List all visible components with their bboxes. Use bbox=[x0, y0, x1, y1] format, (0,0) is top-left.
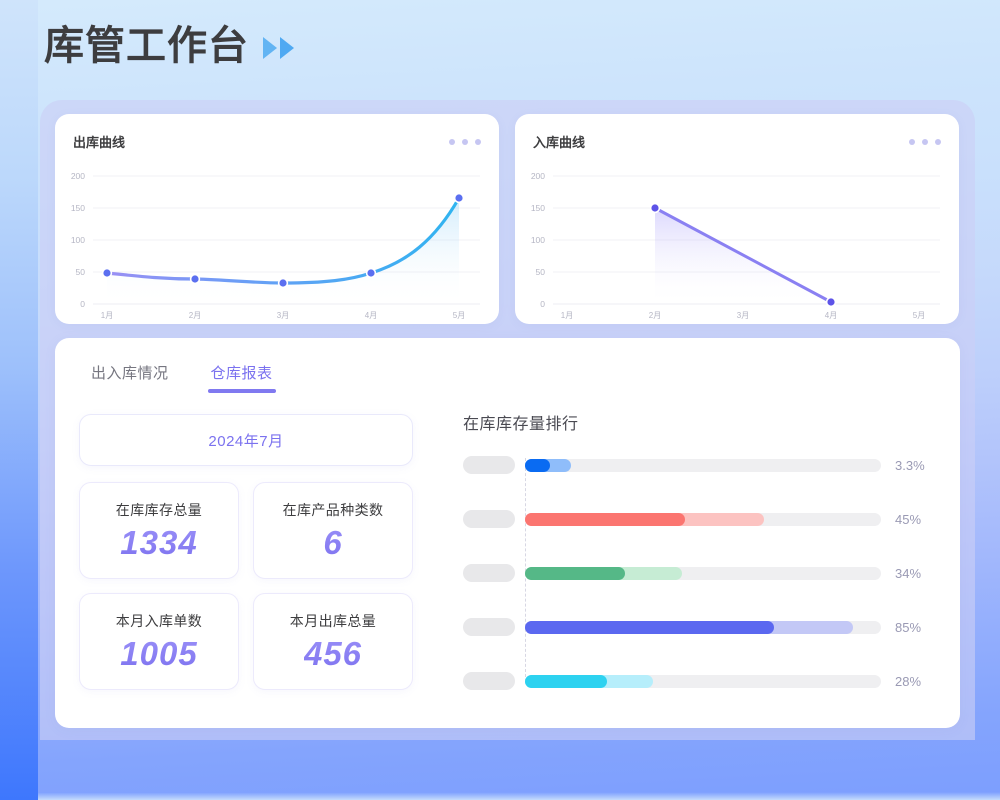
page-title: 库管工作台 bbox=[44, 26, 249, 66]
stat-value: 1334 bbox=[120, 524, 197, 562]
ranking-percent: 45% bbox=[895, 512, 941, 527]
stat-card-product-types[interactable]: 在库产品种类数 6 bbox=[253, 482, 413, 579]
ranking-title: 在库库存量排行 bbox=[463, 410, 941, 434]
report-card: 出入库情况 仓库报表 2024年7月 在库库存总量 1334 在库产品种类数 6… bbox=[55, 338, 960, 728]
ranking-bar-dark bbox=[525, 513, 685, 526]
ranking-label-placeholder bbox=[463, 564, 515, 582]
ranking-percent: 28% bbox=[895, 674, 941, 689]
svg-text:3月: 3月 bbox=[737, 311, 749, 320]
svg-text:0: 0 bbox=[80, 299, 85, 309]
chart-card-inbound: 入库曲线 200 150 100 50 0 bbox=[515, 114, 959, 324]
background-bottom-fade bbox=[38, 792, 1000, 800]
chevron-right-icon-2 bbox=[280, 37, 294, 59]
chart-plot-inbound: 200 150 100 50 0 1月 2月 3月 4月 5月 bbox=[515, 158, 959, 324]
more-dots-icon-inbound[interactable] bbox=[909, 139, 941, 145]
report-content: 2024年7月 在库库存总量 1334 在库产品种类数 6 本月入库单数 100… bbox=[55, 410, 960, 728]
tab-bar: 出入库情况 仓库报表 bbox=[91, 362, 273, 393]
ranking-column: 在库库存量排行 3.3% 45% bbox=[463, 410, 941, 690]
ranking-row[interactable]: 85% bbox=[463, 618, 941, 636]
ranking-row[interactable]: 34% bbox=[463, 564, 941, 582]
svg-text:1月: 1月 bbox=[561, 311, 573, 320]
svg-text:5月: 5月 bbox=[453, 311, 465, 320]
svg-text:100: 100 bbox=[71, 235, 85, 245]
svg-text:150: 150 bbox=[71, 203, 85, 213]
ranking-label-placeholder bbox=[463, 510, 515, 528]
ranking-bar-track bbox=[525, 621, 881, 634]
ranking-bar-dark bbox=[525, 621, 774, 634]
page-header: 库管工作台 bbox=[44, 26, 294, 66]
ranking-row[interactable]: 28% bbox=[463, 672, 941, 690]
stat-card-inbound-orders[interactable]: 本月入库单数 1005 bbox=[79, 593, 239, 690]
chart-header-outbound: 出库曲线 bbox=[73, 132, 481, 151]
svg-text:4月: 4月 bbox=[365, 311, 377, 320]
ranking-row[interactable]: 3.3% bbox=[463, 456, 941, 474]
chevron-right-icon-1 bbox=[263, 37, 277, 59]
svg-text:200: 200 bbox=[531, 171, 545, 181]
ranking-bar-track bbox=[525, 675, 881, 688]
stat-label: 本月入库单数 bbox=[116, 611, 202, 631]
svg-text:2月: 2月 bbox=[189, 311, 201, 320]
tab-inout-situation[interactable]: 出入库情况 bbox=[91, 362, 169, 393]
stat-label: 在库库存总量 bbox=[116, 500, 202, 520]
ranking-bar-track bbox=[525, 567, 881, 580]
tab-warehouse-report[interactable]: 仓库报表 bbox=[211, 362, 273, 393]
more-dots-icon-outbound[interactable] bbox=[449, 139, 481, 145]
svg-text:200: 200 bbox=[71, 171, 85, 181]
svg-text:100: 100 bbox=[531, 235, 545, 245]
chart-card-outbound: 出库曲线 bbox=[55, 114, 499, 324]
background-left-strip bbox=[0, 0, 38, 800]
svg-text:50: 50 bbox=[536, 267, 546, 277]
svg-text:3月: 3月 bbox=[277, 311, 289, 320]
ranking-bar-dark bbox=[525, 459, 550, 472]
chart-plot-outbound: 200 150 100 50 0 1月 2月 3月 4月 bbox=[55, 158, 499, 324]
ranking-percent: 3.3% bbox=[895, 458, 941, 473]
ranking-percent: 34% bbox=[895, 566, 941, 581]
double-chevron-right-icon bbox=[263, 37, 294, 59]
svg-text:4月: 4月 bbox=[825, 311, 837, 320]
charts-row: 出库曲线 bbox=[55, 114, 960, 324]
ranking-label-placeholder bbox=[463, 456, 515, 474]
ranking-bar-dark bbox=[525, 567, 625, 580]
ranking-bar-track bbox=[525, 459, 881, 472]
svg-text:5月: 5月 bbox=[913, 311, 925, 320]
svg-text:150: 150 bbox=[531, 203, 545, 213]
chart-title-inbound: 入库曲线 bbox=[533, 132, 585, 151]
date-selector-value: 2024年7月 bbox=[208, 430, 283, 451]
ranking-bar-track bbox=[525, 513, 881, 526]
ranking-row[interactable]: 45% bbox=[463, 510, 941, 528]
ranking-list: 3.3% 45% 34% bbox=[463, 456, 941, 690]
svg-text:1月: 1月 bbox=[101, 311, 113, 320]
ranking-bar-dark bbox=[525, 675, 607, 688]
stats-column: 2024年7月 在库库存总量 1334 在库产品种类数 6 本月入库单数 100… bbox=[79, 414, 419, 690]
date-selector[interactable]: 2024年7月 bbox=[79, 414, 413, 466]
stat-value: 1005 bbox=[120, 635, 197, 673]
stat-value: 6 bbox=[323, 524, 342, 562]
ranking-label-placeholder bbox=[463, 618, 515, 636]
stat-grid: 在库库存总量 1334 在库产品种类数 6 本月入库单数 1005 本月出库总量… bbox=[79, 482, 419, 690]
stat-card-outbound-total[interactable]: 本月出库总量 456 bbox=[253, 593, 413, 690]
ranking-label-placeholder bbox=[463, 672, 515, 690]
chart-header-inbound: 入库曲线 bbox=[533, 132, 941, 151]
svg-text:50: 50 bbox=[76, 267, 86, 277]
chart-title-outbound: 出库曲线 bbox=[73, 132, 125, 151]
stat-label: 本月出库总量 bbox=[290, 611, 376, 631]
svg-text:0: 0 bbox=[540, 299, 545, 309]
svg-text:2月: 2月 bbox=[649, 311, 661, 320]
ranking-percent: 85% bbox=[895, 620, 941, 635]
stat-card-total-stock[interactable]: 在库库存总量 1334 bbox=[79, 482, 239, 579]
stat-label: 在库产品种类数 bbox=[283, 500, 384, 520]
stat-value: 456 bbox=[304, 635, 362, 673]
